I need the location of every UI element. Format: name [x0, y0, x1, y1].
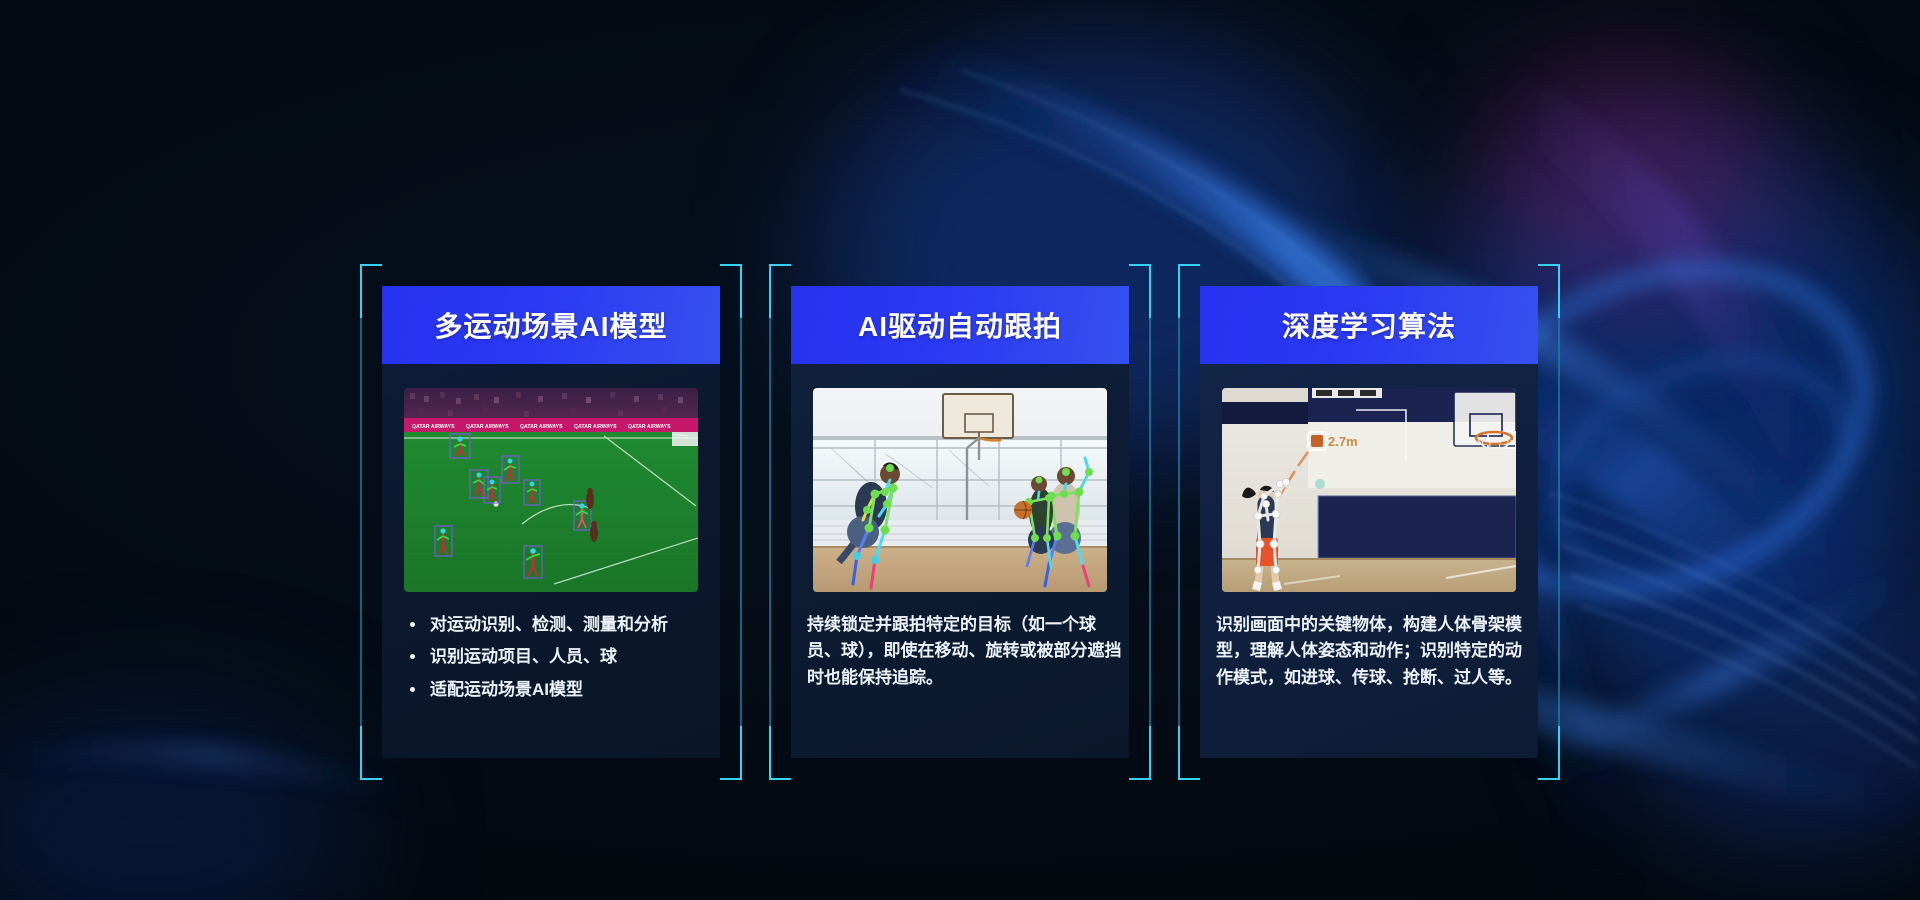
- card-header: 深度学习算法: [1200, 286, 1538, 364]
- card-left-edge-line: [769, 264, 771, 780]
- card-body: 对运动识别、检测、测量和分析 识别运动项目、人员、球 适配运动场景AI模型: [406, 612, 718, 709]
- list-item: 适配运动场景AI模型: [406, 677, 718, 703]
- feature-bullet-list: 对运动识别、检测、测量和分析 识别运动项目、人员、球 适配运动场景AI模型: [406, 612, 718, 703]
- card-title: AI驱动自动跟拍: [858, 305, 1062, 345]
- measurement-label: 2.7m: [1328, 434, 1358, 449]
- svg-text:QATAR AIRWAYS: QATAR AIRWAYS: [574, 424, 617, 430]
- svg-text:QATAR AIRWAYS: QATAR AIRWAYS: [628, 424, 671, 430]
- card-right-edge-line: [1149, 264, 1151, 780]
- card-description: 持续锁定并跟拍特定的目标（如一个球员、球），即使在移动、旋转或被部分遮挡时也能保…: [807, 612, 1127, 691]
- svg-text:QATAR AIRWAYS: QATAR AIRWAYS: [466, 424, 509, 430]
- card-header: 多运动场景AI模型: [382, 286, 720, 364]
- card-title: 深度学习算法: [1282, 305, 1456, 345]
- card-right-edge-line: [1558, 264, 1560, 780]
- feature-card-deep-learning-algorithm[interactable]: 深度学习算法: [1178, 264, 1560, 780]
- card-image-basketball-gym-pose-tracking: [813, 388, 1107, 592]
- card-image-basketball-shot-measurement: 2.7m: [1222, 388, 1516, 592]
- card-header: AI驱动自动跟拍: [791, 286, 1129, 364]
- svg-text:QATAR AIRWAYS: QATAR AIRWAYS: [412, 424, 455, 430]
- card-image-soccer-pitch-detection: QATAR AIRWAYSQATAR AIRWAYS QATAR AIRWAYS…: [404, 388, 698, 592]
- card-right-edge-line: [740, 264, 742, 780]
- card-left-edge-line: [360, 264, 362, 780]
- card-title: 多运动场景AI模型: [434, 305, 667, 345]
- feature-card-ai-auto-tracking[interactable]: AI驱动自动跟拍: [769, 264, 1151, 780]
- card-body: 持续锁定并跟拍特定的目标（如一个球员、球），即使在移动、旋转或被部分遮挡时也能保…: [807, 612, 1127, 691]
- card-left-edge-line: [1178, 264, 1180, 780]
- feature-card-multi-sport-ai-model[interactable]: 多运动场景AI模型: [360, 264, 742, 780]
- list-item: 识别运动项目、人员、球: [406, 644, 718, 670]
- card-body: 识别画面中的关键物体，构建人体骨架模型，理解人体姿态和动作；识别特定的动作模式，…: [1216, 612, 1536, 691]
- list-item: 对运动识别、检测、测量和分析: [406, 612, 718, 638]
- svg-text:QATAR AIRWAYS: QATAR AIRWAYS: [520, 424, 563, 430]
- card-description: 识别画面中的关键物体，构建人体骨架模型，理解人体姿态和动作；识别特定的动作模式，…: [1216, 612, 1536, 691]
